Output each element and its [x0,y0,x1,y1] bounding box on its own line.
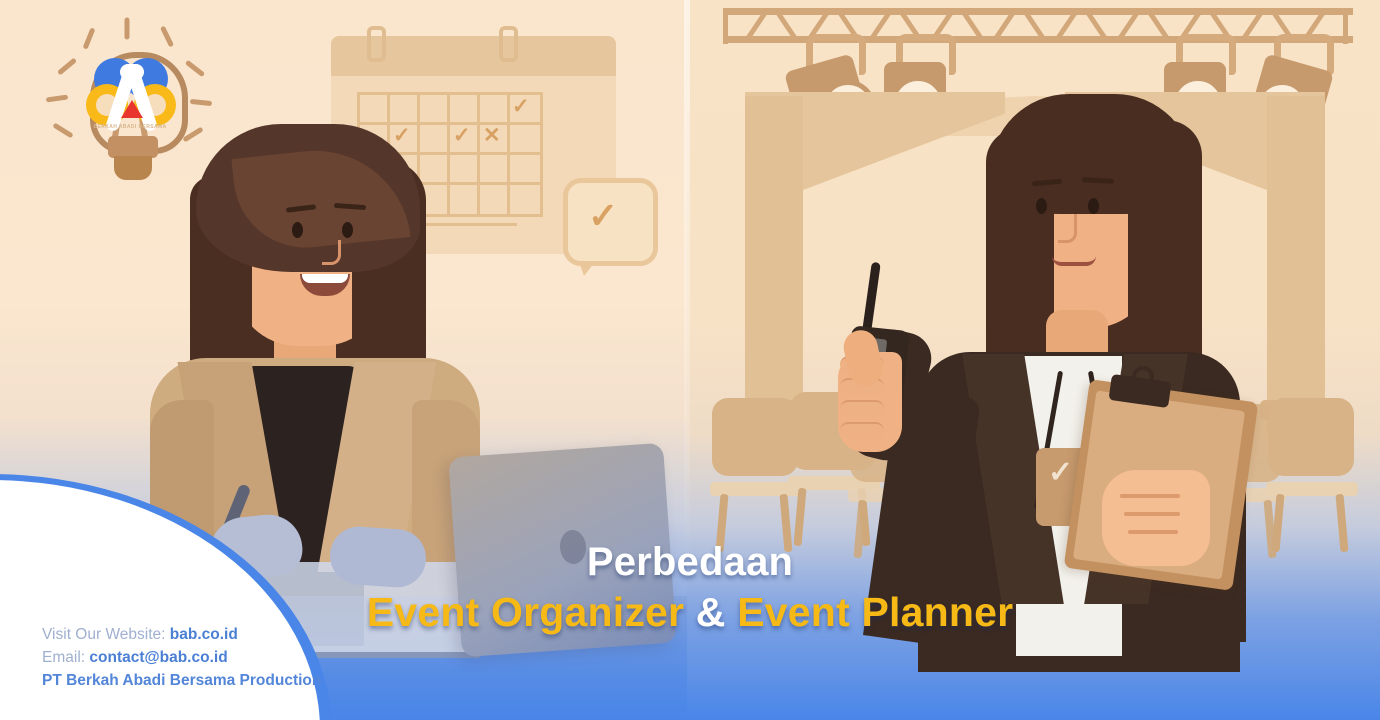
logo-subtext: BERKAH ABADI BERSAMA [74,124,186,130]
planner-nose [1058,214,1077,243]
bubble-check-icon: ✓ [588,198,618,234]
bulb-base [114,156,152,180]
contact-website-value[interactable]: bab.co.id [170,626,238,643]
banner-canvas: ✓ ✓ ✓ ✕ ✓ [0,0,1380,720]
company-logo[interactable]: BERKAH ABADI BERSAMA [38,24,198,184]
planner-eye [1088,198,1099,214]
bulb-ray [52,123,73,139]
planner-hand-right [1102,470,1210,566]
planner-hair-top [990,94,1194,214]
calendar-check-icon: ✓ [512,96,530,117]
contact-company-name: PT Berkah Abadi Bersama Production [42,670,372,693]
organizer-hand-right [328,525,428,590]
bulb-ray [83,27,96,49]
contact-email-line: Email: contact@bab.co.id [42,647,372,670]
organizer-eye [292,222,303,238]
calendar-check-icon: ✓ [393,125,411,146]
panel-divider [684,0,690,560]
finger-line [1120,494,1180,498]
bulb-ray [125,18,130,40]
bulb-ray [160,26,174,48]
contact-website-line: Visit Our Website: bab.co.id [42,624,372,647]
planner-mouth [1052,256,1096,266]
folding-chair [1268,398,1354,548]
contact-email-value[interactable]: contact@bab.co.id [89,649,227,666]
calendar-ring-icon [367,26,386,62]
bulb-neck [108,136,158,158]
contact-email-label: Email: [42,649,85,666]
badge-check-icon: ✓ [1048,458,1073,488]
logo-a-apex [120,64,144,80]
folding-chair [712,398,798,548]
bulb-ray [57,58,77,76]
contact-website-label: Visit Our Website: [42,626,165,643]
logo-red-triangle-icon [121,100,143,118]
organizer-nose [322,240,341,265]
contact-block: Visit Our Website: bab.co.id Email: cont… [42,624,372,693]
bulb-ray [190,99,212,106]
calendar-cross-icon: ✕ [483,125,501,146]
organizer-eye [342,222,353,238]
finger-line [1124,512,1180,516]
finger-line [1128,530,1178,534]
calendar-check-icon: ✓ [453,125,471,146]
planner-eye [1036,198,1047,214]
calendar-ring-icon [499,26,518,62]
bulb-ray [46,94,68,102]
